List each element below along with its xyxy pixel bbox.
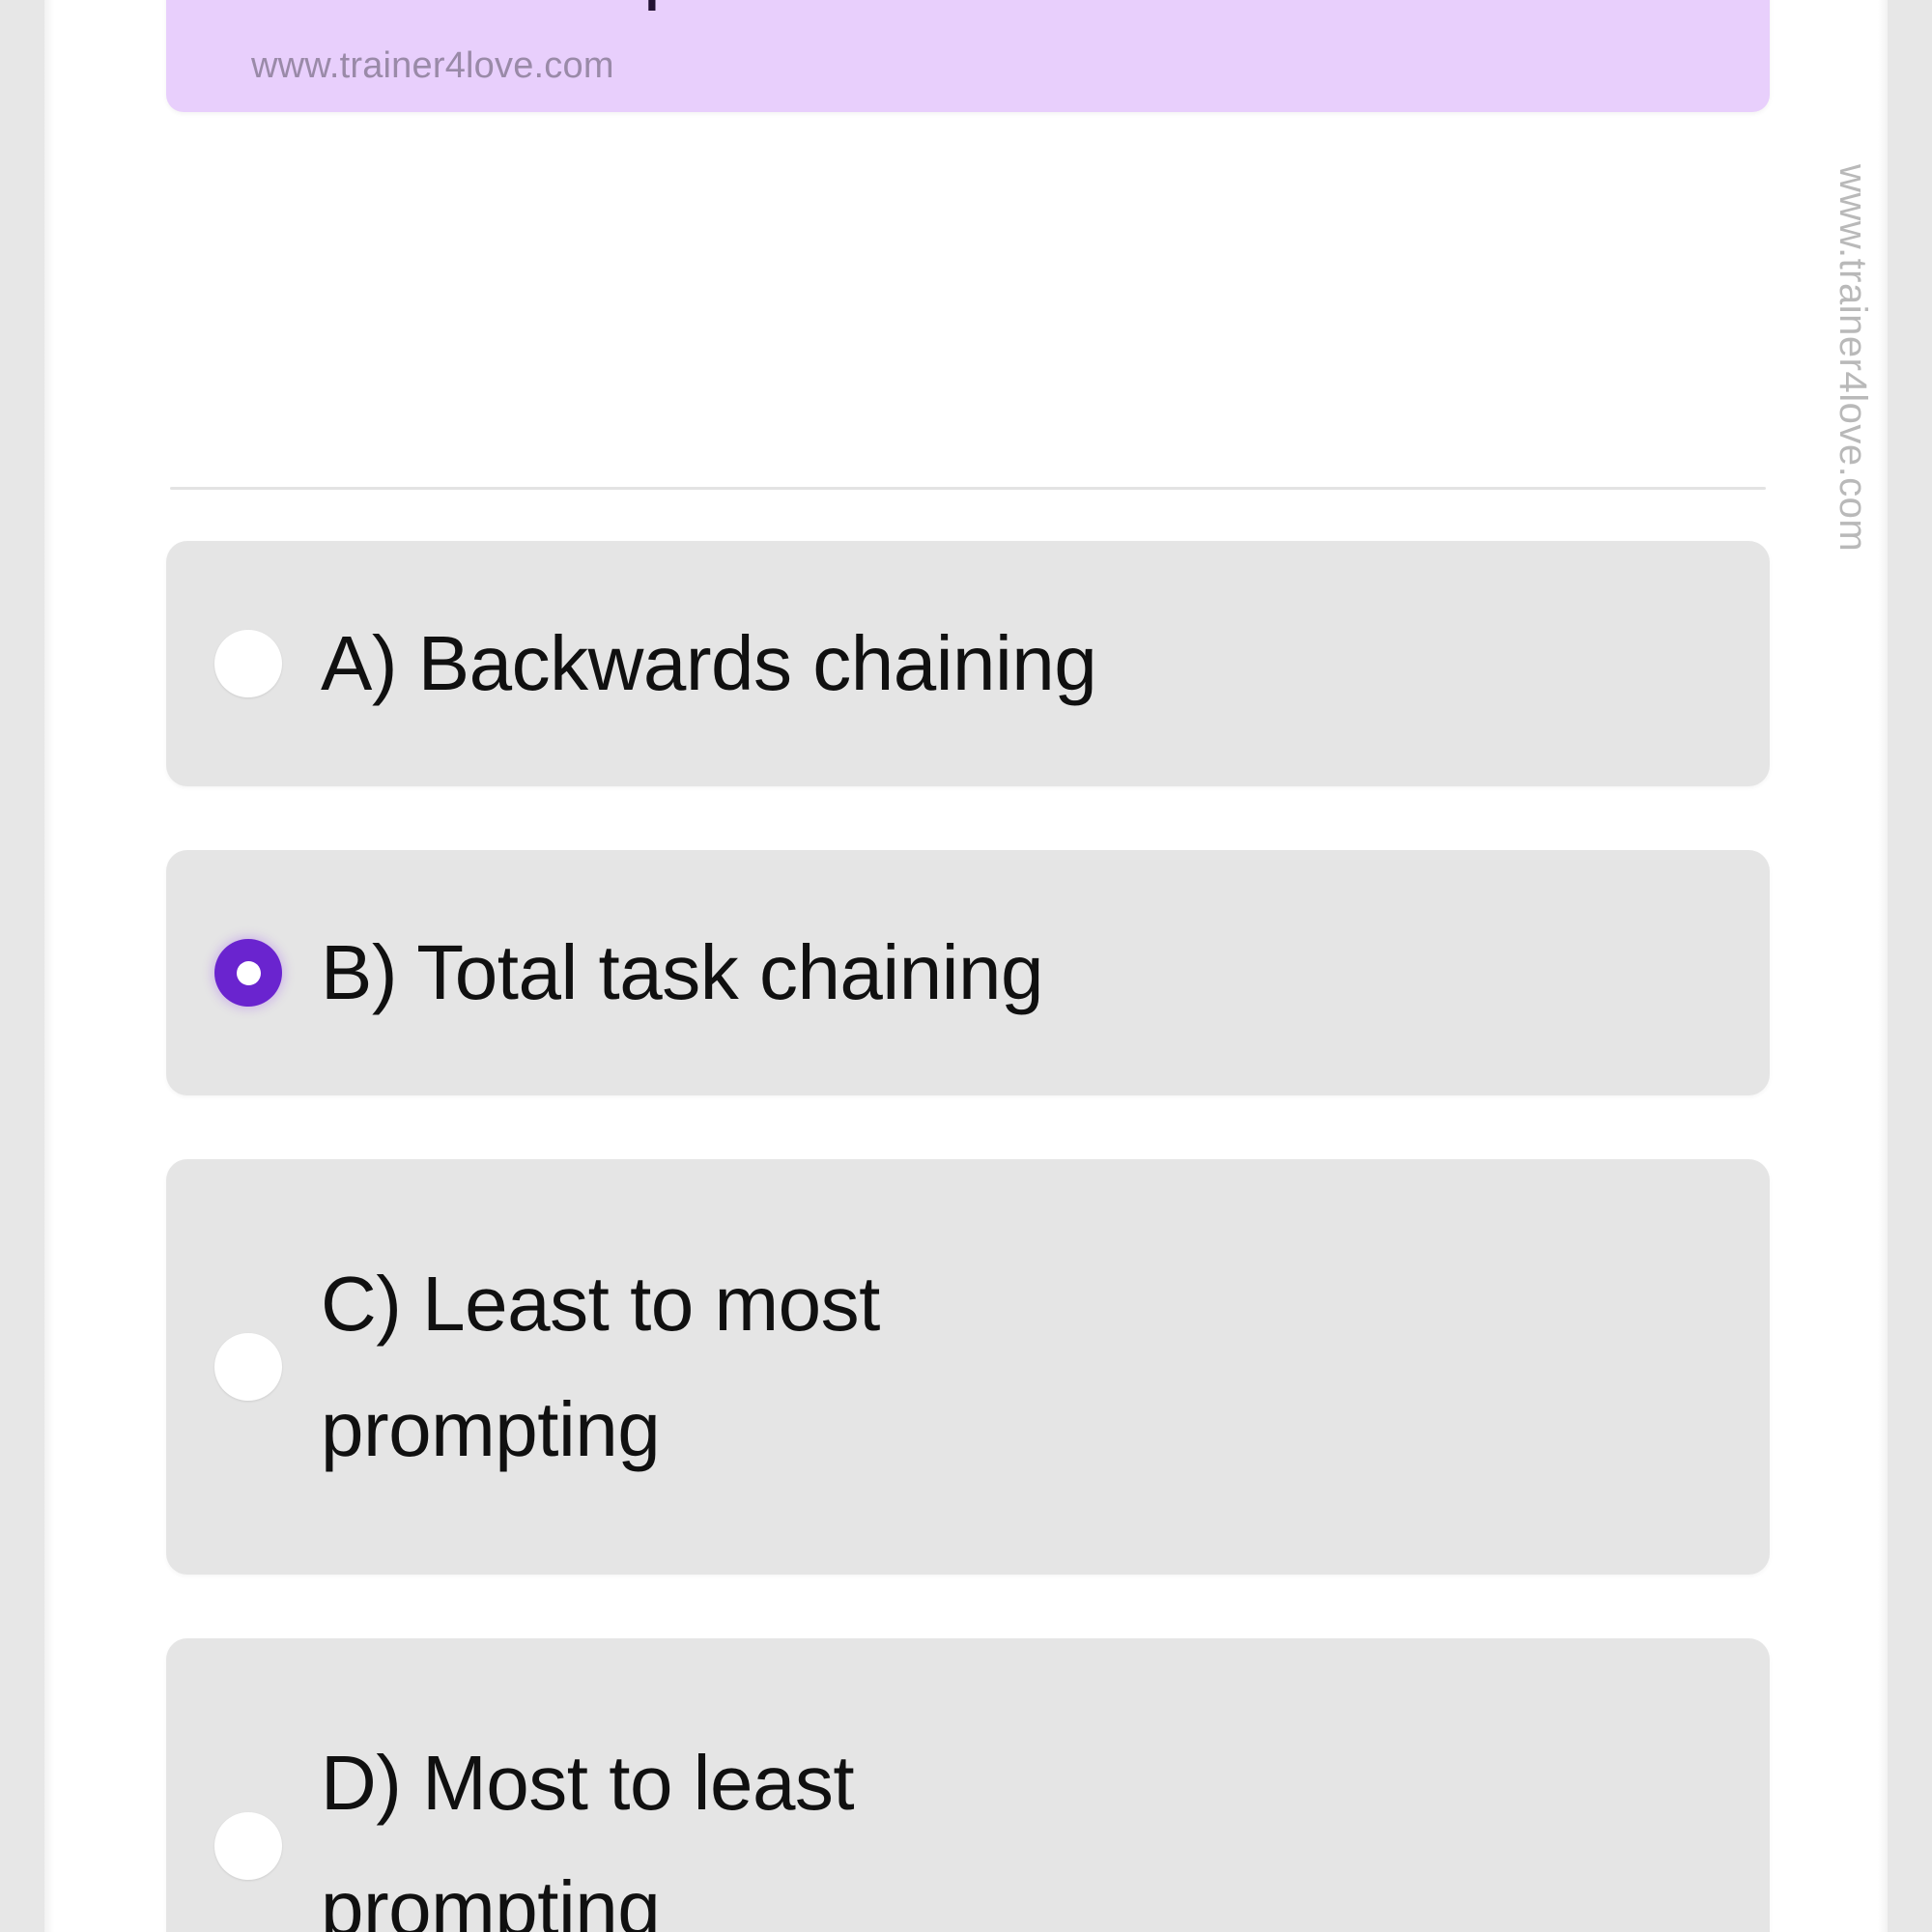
- side-watermark: www.trainer4love.com: [1833, 164, 1872, 552]
- right-edge-seam: [1878, 0, 1888, 1932]
- answer-option-a[interactable]: A) Backwards chaining: [166, 541, 1770, 786]
- question-watermark: www.trainer4love.com: [166, 46, 1770, 87]
- radio-button-a-icon[interactable]: [214, 630, 282, 697]
- radio-button-c-icon[interactable]: [214, 1333, 282, 1401]
- radio-button-b-selected-icon[interactable]: [214, 939, 282, 1007]
- question-text: with developmental disabilities?: [166, 0, 1770, 29]
- answer-options-list: A) Backwards chaining B) Total task chai…: [166, 541, 1770, 1932]
- left-edge-strip: [0, 0, 44, 1932]
- radio-button-d-icon[interactable]: [214, 1812, 282, 1880]
- answer-option-d[interactable]: D) Most to least prompting: [166, 1638, 1770, 1932]
- answer-option-d-label: D) Most to least prompting: [321, 1720, 854, 1932]
- answer-option-b-label: B) Total task chaining: [321, 910, 1043, 1036]
- quiz-screen: with developmental disabilities? www.tra…: [0, 0, 1932, 1932]
- answer-option-a-label: A) Backwards chaining: [321, 601, 1096, 726]
- left-edge-seam: [44, 0, 54, 1932]
- question-card: with developmental disabilities? www.tra…: [166, 0, 1770, 112]
- right-edge-strip: [1888, 0, 1932, 1932]
- section-divider: [170, 487, 1766, 490]
- answer-option-c[interactable]: C) Least to most prompting: [166, 1159, 1770, 1575]
- answer-option-c-label: C) Least to most prompting: [321, 1241, 880, 1492]
- answer-option-b[interactable]: B) Total task chaining: [166, 850, 1770, 1095]
- quiz-content-column: with developmental disabilities? www.tra…: [166, 0, 1770, 1932]
